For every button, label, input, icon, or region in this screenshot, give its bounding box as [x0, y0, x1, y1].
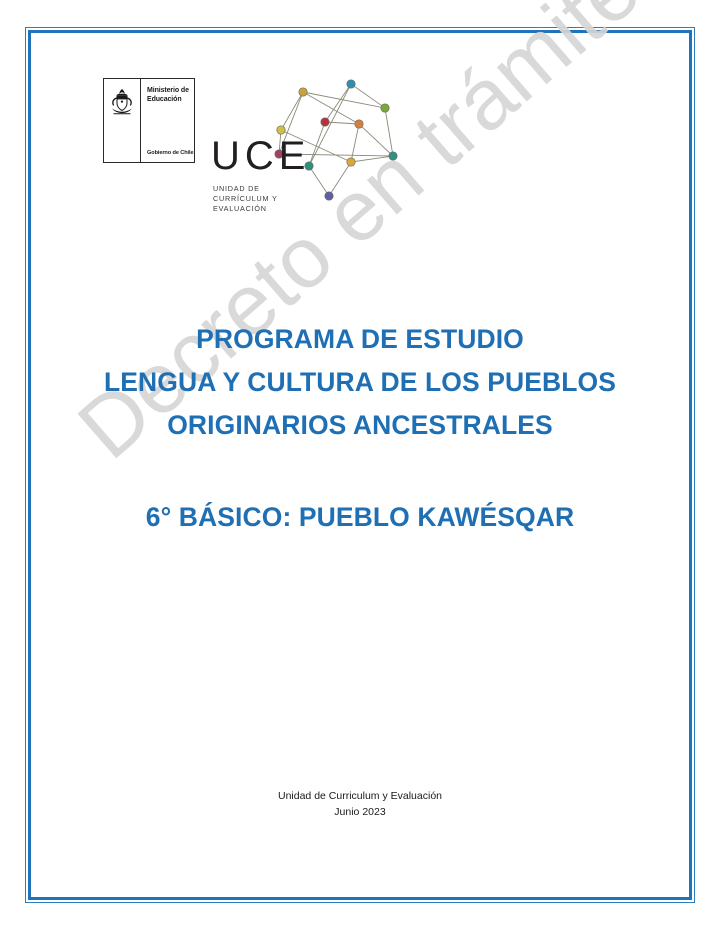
page-subtitle: 6° BÁSICO: PUEBLO KAWÉSQAR: [60, 498, 660, 536]
ministry-name-line1: Ministerio de: [147, 87, 194, 96]
uce-subtitle-line3: EVALUACIÓN: [213, 204, 278, 214]
ministerio-de-educacion-logo: Ministerio de Educación Gobierno de Chil…: [103, 78, 195, 163]
chile-coat-of-arms-icon: [109, 87, 135, 117]
uce-subtitle-line1: UNIDAD DE: [213, 184, 278, 194]
ministry-text-block: Ministerio de Educación Gobierno de Chil…: [141, 79, 194, 162]
uce-acronym: UCE: [211, 136, 310, 176]
footer-date-line: Junio 2023: [60, 804, 660, 820]
uce-logo: UCE UNIDAD DE CURRÍCULUM Y EVALUACIÓN: [211, 104, 391, 214]
crest-container: [104, 79, 141, 162]
title-line-2: LENGUA Y CULTURA DE LOS PUEBLOS: [60, 361, 660, 404]
logo-row: Ministerio de Educación Gobierno de Chil…: [103, 78, 391, 214]
ministry-name-line2: Educación: [147, 96, 194, 105]
title-line-3: ORIGINARIOS ANCESTRALES: [60, 404, 660, 447]
uce-subtitle-line2: CURRÍCULUM Y: [213, 194, 278, 204]
page-content: Ministerio de Educación Gobierno de Chil…: [0, 0, 720, 932]
title-line-1: PROGRAMA DE ESTUDIO: [60, 318, 660, 361]
page-footer: Unidad de Curriculum y Evaluación Junio …: [60, 788, 660, 820]
document-page: Ministerio de Educación Gobierno de Chil…: [0, 0, 720, 932]
uce-subtitle: UNIDAD DE CURRÍCULUM Y EVALUACIÓN: [213, 184, 278, 214]
footer-unit-line: Unidad de Curriculum y Evaluación: [60, 788, 660, 804]
page-title: PROGRAMA DE ESTUDIO LENGUA Y CULTURA DE …: [60, 318, 660, 447]
government-label: Gobierno de Chile: [147, 150, 193, 156]
subtitle-line-1: 6° BÁSICO: PUEBLO KAWÉSQAR: [60, 498, 660, 536]
